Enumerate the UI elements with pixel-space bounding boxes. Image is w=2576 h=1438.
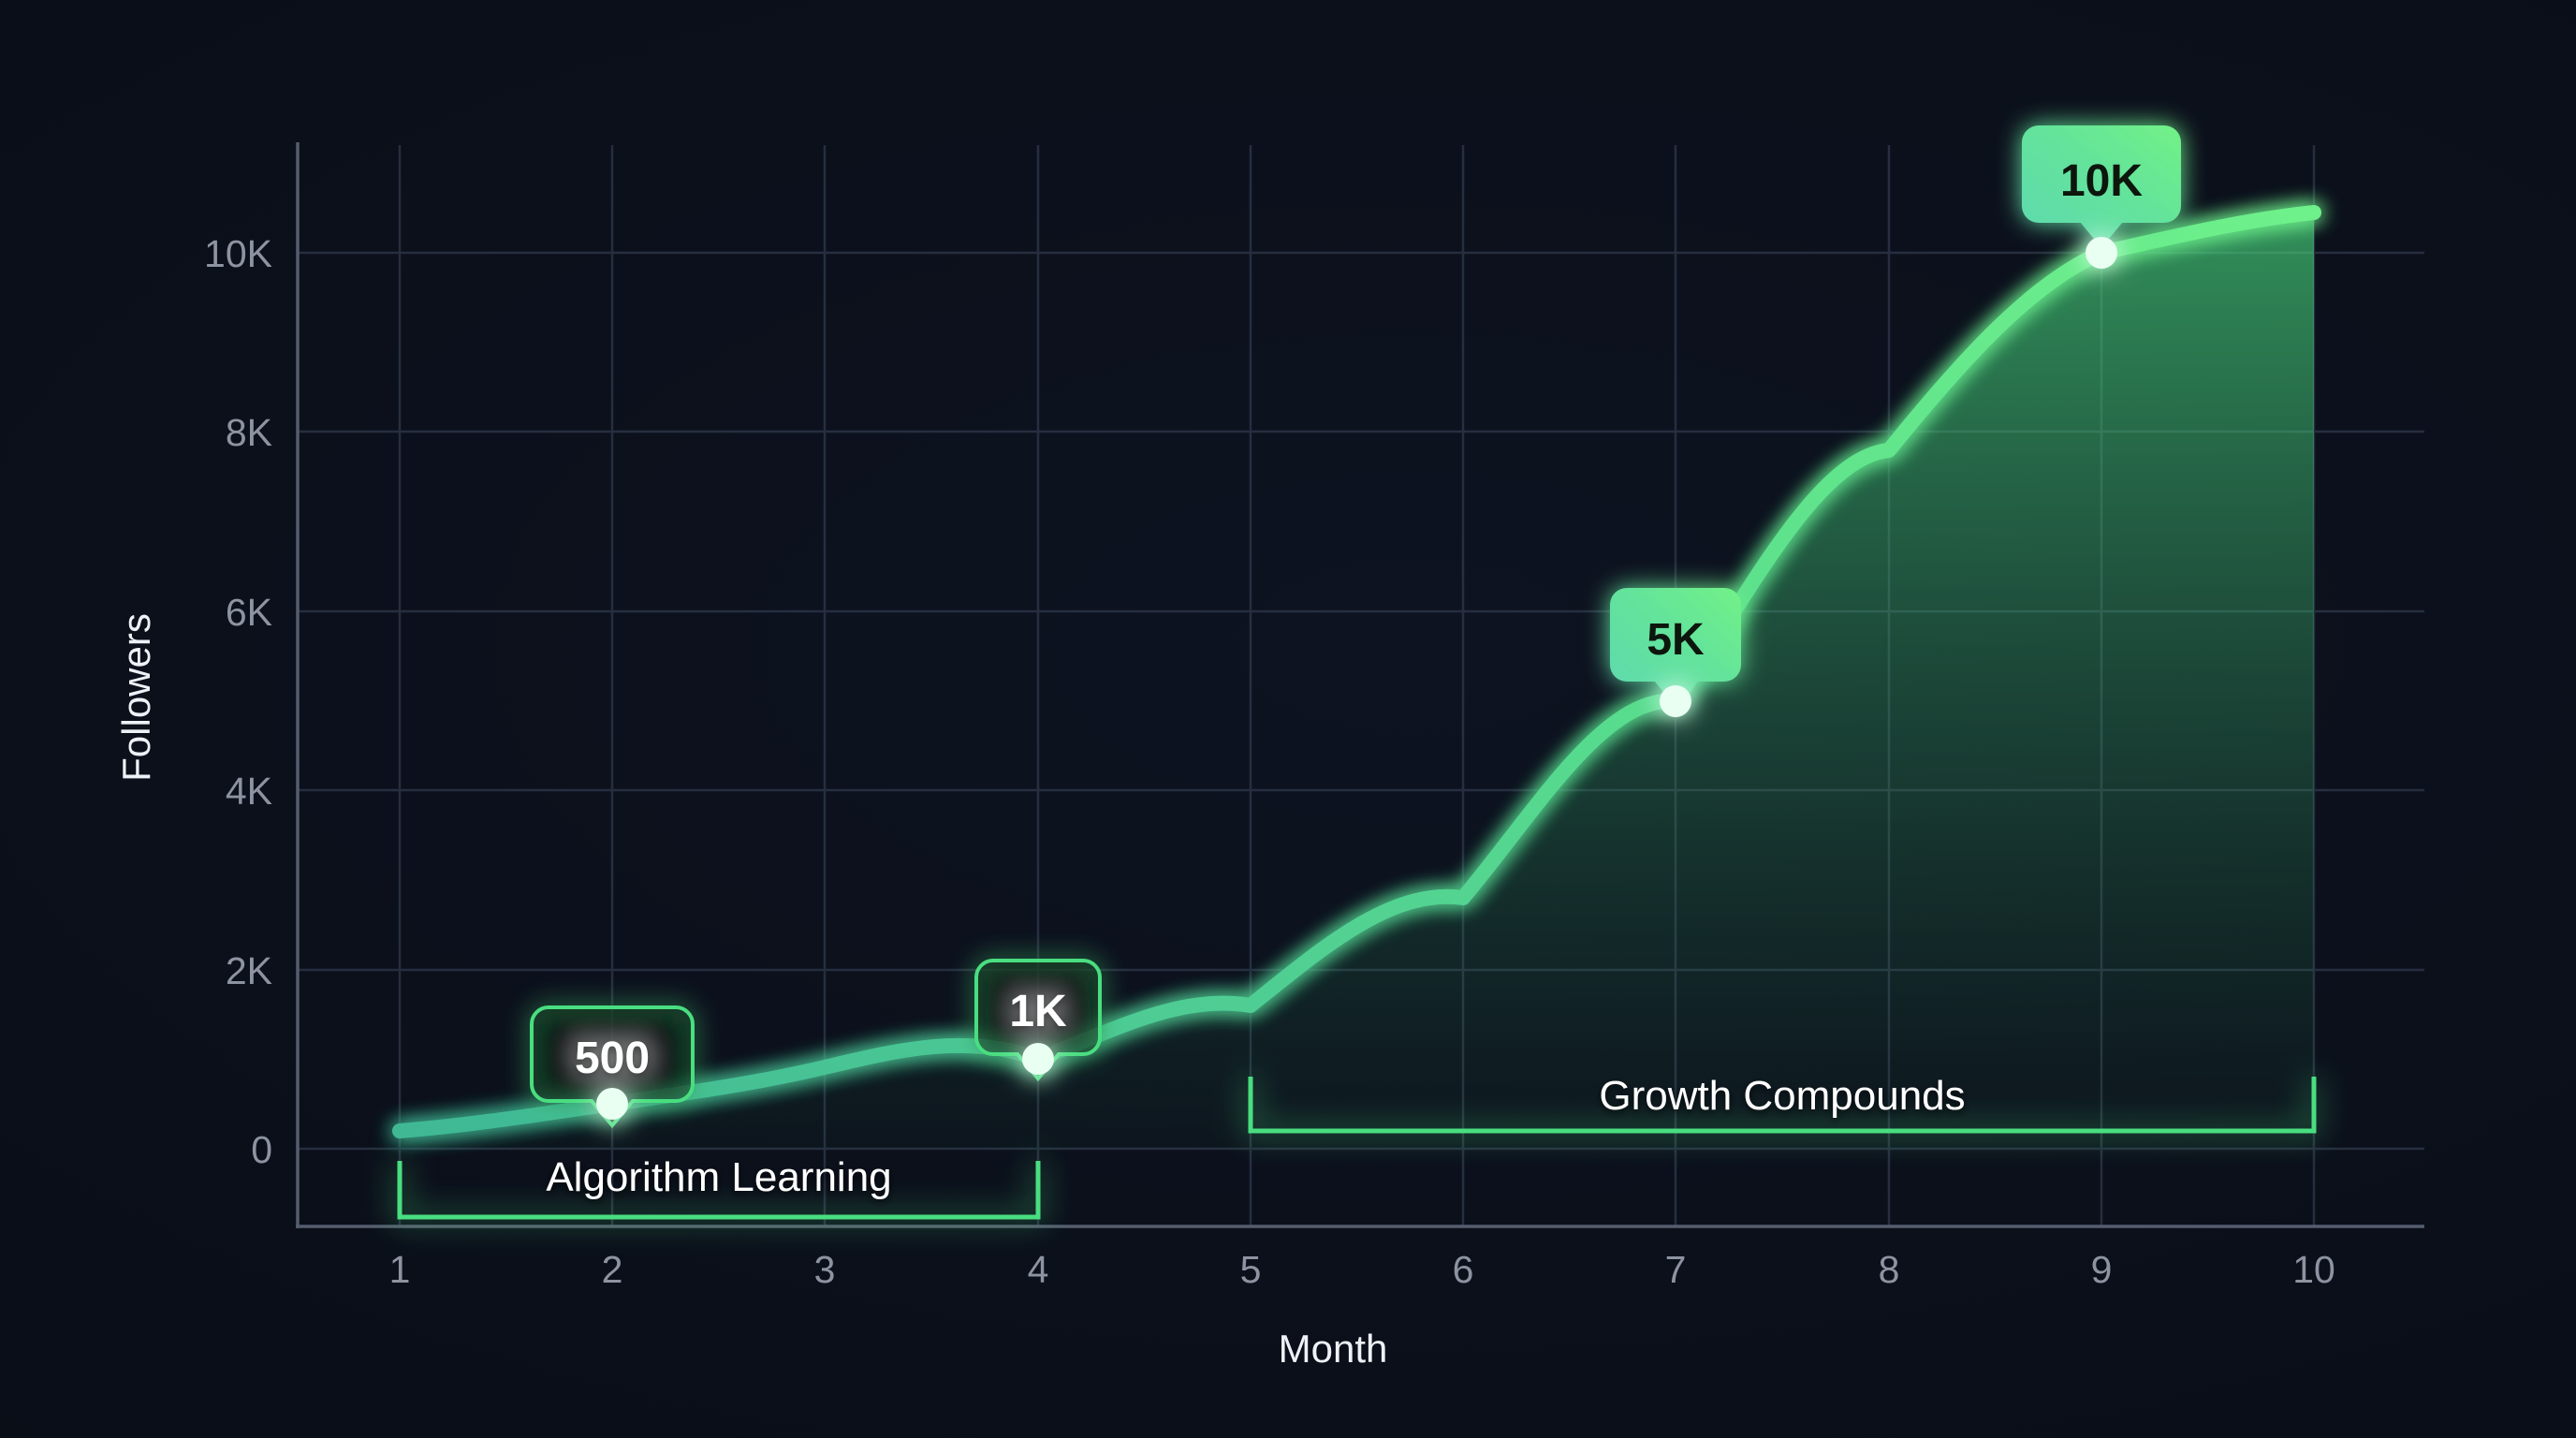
x-tick-6: 6 (1453, 1248, 1474, 1291)
y-axis-title: Followers (114, 613, 158, 782)
y-axis-tick-labels: 10K 8K 6K 4K 2K 0 (204, 232, 272, 1171)
callout-500-label: 500 (575, 1034, 650, 1083)
followers-area (400, 213, 2314, 1149)
x-axis-tick-labels: 1 2 3 4 5 6 7 8 9 10 (389, 1248, 2335, 1291)
callout-10k-label: 10K (2060, 156, 2143, 206)
x-tick-5: 5 (1240, 1248, 1262, 1291)
y-tick-0: 0 (251, 1128, 272, 1171)
x-tick-8: 8 (1879, 1248, 1900, 1291)
marker-dot-5k[interactable] (1660, 685, 1691, 717)
x-tick-4: 4 (1028, 1248, 1049, 1291)
x-tick-10: 10 (2292, 1248, 2335, 1291)
chart-canvas: 10K 8K 6K 4K 2K 0 1 2 3 4 5 6 7 8 9 10 M… (0, 0, 2576, 1438)
marker-dot-1k[interactable] (1022, 1043, 1054, 1075)
callout-10k[interactable]: 10K (2022, 125, 2181, 248)
bracket-growth-compounds-label: Growth Compounds (1599, 1073, 1965, 1119)
x-tick-7: 7 (1665, 1248, 1687, 1291)
annotation-algorithm-learning: Algorithm Learning (400, 1154, 1038, 1217)
followers-growth-chart: 10K 8K 6K 4K 2K 0 1 2 3 4 5 6 7 8 9 10 M… (0, 0, 2576, 1438)
bracket-algorithm-learning-label: Algorithm Learning (546, 1154, 891, 1200)
x-tick-9: 9 (2091, 1248, 2113, 1291)
y-tick-6k: 6K (226, 591, 272, 634)
x-tick-2: 2 (602, 1248, 623, 1291)
callout-1k-label: 1K (1009, 987, 1067, 1036)
marker-dot-500[interactable] (596, 1088, 628, 1120)
y-tick-4k: 4K (226, 770, 272, 813)
callout-5k-label: 5K (1647, 615, 1705, 665)
y-tick-10k: 10K (204, 232, 272, 275)
marker-dot-10k[interactable] (2086, 237, 2117, 269)
x-tick-1: 1 (389, 1248, 411, 1291)
series-group (400, 213, 2314, 1149)
y-tick-8k: 8K (226, 411, 272, 454)
y-tick-2k: 2K (226, 949, 272, 992)
x-axis-title: Month (1279, 1327, 1388, 1371)
x-tick-3: 3 (814, 1248, 836, 1291)
